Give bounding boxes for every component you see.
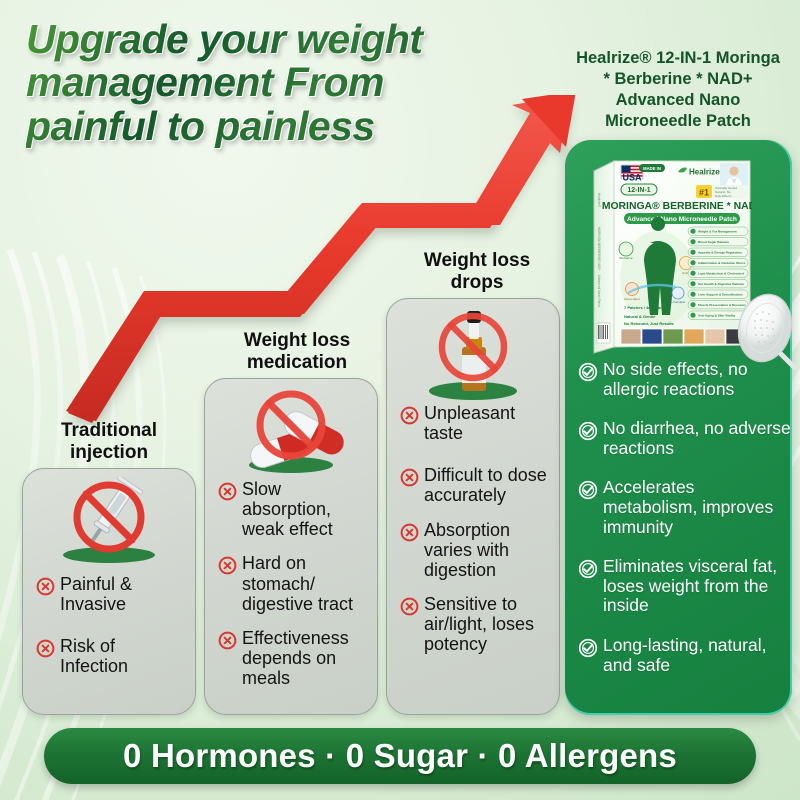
headline-line-1: Upgrade your weight — [26, 18, 546, 61]
card2-bullet-2: Effectiveness depends on meals — [242, 628, 369, 688]
card1-title-line1: Traditional — [14, 420, 204, 442]
svg-text:Berberine: Berberine — [619, 256, 632, 260]
svg-text:Resveratrol: Resveratrol — [624, 297, 640, 301]
svg-text:MORINGA® BERBERINE * NAD+: MORINGA® BERBERINE * NAD+ — [602, 201, 752, 212]
card3-bullet-3: Sensitive to air/light, loses potency — [424, 594, 551, 654]
svg-text:Weight & Fat Management: Weight & Fat Management — [698, 229, 737, 233]
benefit-1: No diarrhea, no adverse reactions — [603, 419, 793, 458]
product-title-line-1: Healrize® 12-IN-1 Moringa — [560, 48, 796, 69]
x-circle-icon — [36, 577, 55, 601]
check-circle-icon — [578, 480, 598, 505]
card3-bullet-1: Difficult to dose accurately — [424, 465, 551, 505]
x-circle-icon — [400, 406, 419, 430]
x-circle-icon — [400, 597, 419, 621]
check-circle-icon — [578, 638, 598, 663]
card2-bullet-0: Slow absorption, weak effect — [242, 479, 369, 539]
card3-title-line2: drops — [382, 272, 572, 294]
product-title-line-4: Microneedle Patch — [560, 111, 796, 132]
card-title-weight-loss-drops: Weight loss drops — [382, 250, 572, 294]
card1-title-line2: injection — [14, 442, 204, 464]
svg-text:Inflammation & Oxidative Stres: Inflammation & Oxidative Stress — [698, 261, 746, 265]
list-item: Unpleasant taste — [400, 403, 551, 443]
svg-text:Lipid Metabolism & Cholesterol: Lipid Metabolism & Cholesterol — [698, 271, 744, 275]
card2-bullet-list: Slow absorption, weak effect Hard on sto… — [218, 479, 369, 699]
card1-bullet-0: Painful & Invasive — [60, 574, 187, 614]
svg-text:Side Effects: Side Effects — [715, 194, 732, 198]
card2-bullet-1: Hard on stomach/ digestive tract — [242, 553, 369, 613]
svg-text:12-IN-1: 12-IN-1 — [627, 187, 650, 194]
x-circle-icon — [400, 468, 419, 492]
x-circle-icon — [218, 482, 237, 506]
comparison-card-weight-loss-drops[interactable]: Unpleasant taste Difficult to dose accur… — [386, 298, 560, 715]
list-item: Effectiveness depends on meals — [218, 628, 369, 688]
card2-title-line2: medication — [202, 352, 392, 374]
benefits-list: No side effects, no allergic reactions N… — [578, 360, 793, 688]
infographic-canvas: Upgrade your weight management From pain… — [0, 0, 800, 800]
svg-text:Advanced Nano Patch: Advanced Nano Patch — [597, 275, 601, 307]
list-item: Painful & Invasive — [36, 574, 187, 614]
list-item: Difficult to dose accurately — [400, 465, 551, 505]
svg-text:7 Patches / 4mg Each: 7 Patches / 4mg Each — [624, 305, 665, 310]
card1-bullet-list: Painful & Invasive Risk of Infection — [36, 574, 187, 688]
list-item: No diarrhea, no adverse reactions — [578, 419, 793, 458]
card2-title-line1: Weight loss — [202, 330, 392, 352]
product-title-line-3: Advanced Nano — [560, 90, 796, 111]
claims-banner-text: 0 Hormones · 0 Sugar · 0 Allergens — [123, 737, 677, 775]
svg-text:Anti-Aging & Skin Vitality: Anti-Aging & Skin Vitality — [698, 313, 736, 317]
list-item: Accelerates metabolism, improves immunit… — [578, 478, 793, 537]
card-title-weight-loss-medication: Weight loss medication — [202, 330, 392, 374]
list-item: Absorption varies with digestion — [400, 520, 551, 580]
benefit-4: Long-lasting, natural, and safe — [603, 636, 793, 675]
svg-text:USA: USA — [622, 173, 642, 183]
card3-bullet-list: Unpleasant taste Difficult to dose accur… — [400, 403, 551, 666]
card3-bullet-0: Unpleasant taste — [424, 403, 551, 443]
list-item: Hard on stomach/ digestive tract — [218, 553, 369, 613]
comparison-card-weight-loss-medication[interactable]: Slow absorption, weak effect Hard on sto… — [204, 378, 378, 715]
product-box-image: Healrize® MORINGA BERBERINE NAD+ Advance… — [592, 157, 752, 355]
svg-text:Natural & Gentle: Natural & Gentle — [624, 314, 656, 319]
card-title-traditional-injection: Traditional injection — [14, 420, 204, 464]
product-title-line-2: * Berberine * NAD+ — [560, 69, 796, 90]
dropper-bottle-prohibited-icon — [387, 307, 559, 403]
svg-text:Gut Health & Digestive Balance: Gut Health & Digestive Balance — [698, 282, 744, 286]
card3-bullet-2: Absorption varies with digestion — [424, 520, 551, 580]
svg-text:Appetite & Energy Regulation: Appetite & Energy Regulation — [698, 250, 742, 254]
x-circle-icon — [218, 631, 237, 655]
benefit-3: Eliminates visceral fat, loses weight fr… — [603, 557, 793, 616]
check-circle-icon — [578, 362, 598, 387]
x-circle-icon — [36, 639, 55, 663]
product-title: Healrize® 12-IN-1 Moringa * Berberine * … — [560, 48, 796, 132]
claims-banner: 0 Hormones · 0 Sugar · 0 Allergens — [44, 728, 756, 784]
list-item: Slow absorption, weak effect — [218, 479, 369, 539]
benefit-2: Accelerates metabolism, improves immunit… — [603, 478, 793, 537]
capsule-pills-prohibited-icon — [205, 385, 377, 477]
check-circle-icon — [578, 559, 598, 584]
x-circle-icon — [400, 523, 419, 547]
card1-bullet-1: Risk of Infection — [60, 636, 187, 676]
svg-text:MADE IN: MADE IN — [643, 166, 661, 171]
svg-text:Advanced Nano Microneedle Patc: Advanced Nano Microneedle Patch — [627, 216, 737, 223]
list-item: Eliminates visceral fat, loses weight fr… — [578, 557, 793, 616]
syringe-prohibited-icon — [23, 477, 195, 565]
microneedle-patch-applicator — [735, 288, 797, 370]
svg-text:L-Carnitine: L-Carnitine — [671, 300, 686, 304]
list-item: Sensitive to air/light, loses potency — [400, 594, 551, 654]
card3-title-line1: Weight loss — [382, 250, 572, 272]
x-circle-icon — [218, 556, 237, 580]
check-circle-icon — [578, 421, 598, 446]
comparison-card-traditional-injection[interactable]: Painful & Invasive Risk of Infection — [22, 468, 196, 715]
list-item: Risk of Infection — [36, 636, 187, 676]
svg-text:Blood Sugar Balance: Blood Sugar Balance — [698, 240, 729, 244]
svg-text:MORINGA BERBERINE NAD+: MORINGA BERBERINE NAD+ — [597, 227, 601, 271]
svg-text:Healrize®: Healrize® — [597, 193, 601, 208]
list-item: No side effects, no allergic reactions — [578, 360, 793, 399]
svg-text:No Rebound, Just Results: No Rebound, Just Results — [624, 321, 675, 326]
benefit-0: No side effects, no allergic reactions — [603, 360, 793, 399]
list-item: Long-lasting, natural, and safe — [578, 636, 793, 675]
svg-text:#1: #1 — [699, 188, 709, 198]
